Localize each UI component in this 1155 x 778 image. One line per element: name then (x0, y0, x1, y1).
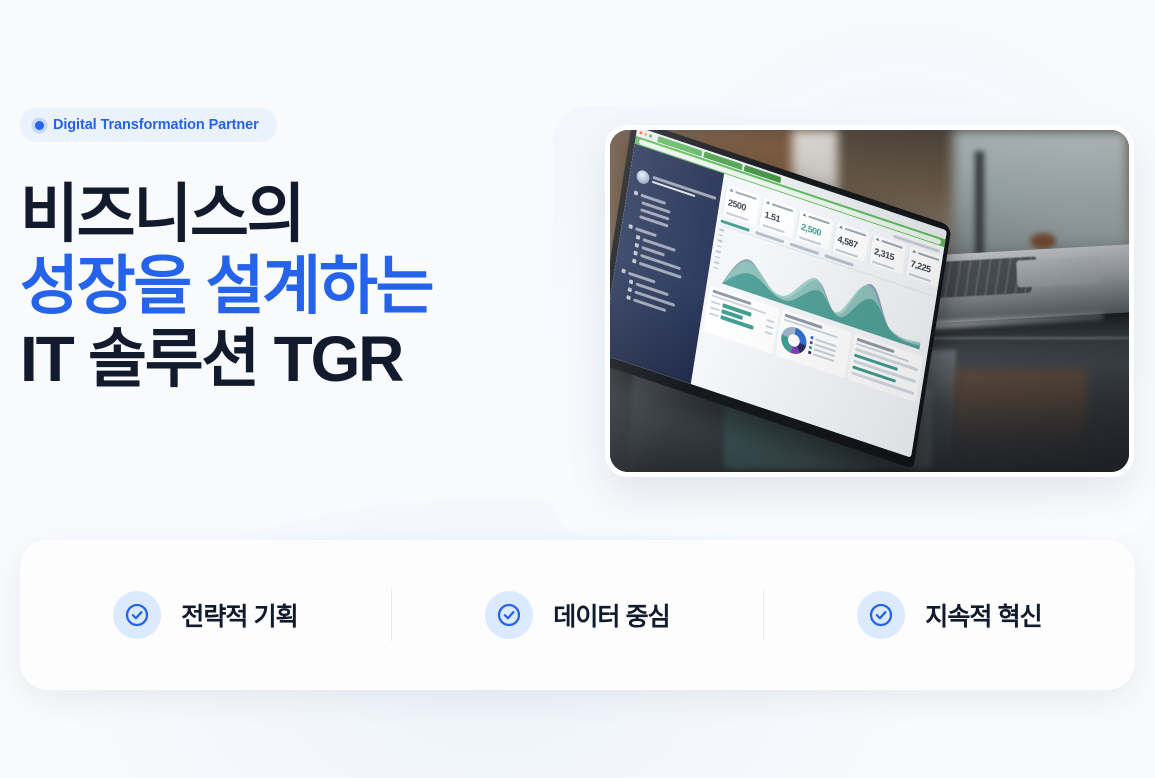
hero-section: Digital Transformation Partner 비즈니스의 성장을… (0, 0, 1155, 540)
kpi-value: 7,225 (910, 259, 931, 275)
window-close-icon (640, 131, 643, 135)
donut-legend (808, 336, 846, 368)
headline-line-2: 성장을 설계하는 (20, 250, 550, 322)
page-title: 비즈니스의 성장을 설계하는 IT 솔루션 TGR (20, 178, 550, 395)
kpi-value: 2500 (728, 197, 747, 213)
feature-label: 지속적 혁신 (925, 597, 1042, 633)
hero-image-frame: 2500 1.51 2,500 (605, 125, 1134, 477)
partner-badge: Digital Transformation Partner (20, 108, 277, 142)
photo-warm-reflection (953, 369, 1088, 469)
feature-item-data-driven[interactable]: 데이터 중심 (392, 591, 763, 639)
feature-label: 데이터 중심 (553, 597, 670, 633)
feature-item-continuous-innovation[interactable]: 지속적 혁신 (764, 591, 1135, 639)
hero-text-column: Digital Transformation Partner 비즈니스의 성장을… (20, 108, 550, 395)
laptop-dashboard-photo: 2500 1.51 2,500 (610, 130, 1129, 472)
kpi-value: 1.51 (764, 210, 781, 225)
photo-lamp (1030, 233, 1056, 249)
feature-label: 전략적 기획 (181, 597, 298, 633)
check-circle-icon (857, 591, 905, 639)
kpi-value: 4,587 (837, 234, 858, 250)
kpi-value: 2,315 (874, 246, 895, 262)
headline-line-3: IT 솔루션 TGR (20, 323, 550, 395)
window-maximize-icon (649, 134, 652, 138)
partner-badge-label: Digital Transformation Partner (53, 117, 259, 133)
feature-highlights-card: 전략적 기획 데이터 중심 지속적 혁신 (20, 540, 1135, 690)
donut-chart (780, 324, 809, 358)
headline-line-1: 비즈니스의 (20, 178, 550, 250)
feature-item-strategic-planning[interactable]: 전략적 기획 (20, 591, 391, 639)
check-circle-icon (485, 591, 533, 639)
avatar (636, 169, 651, 186)
dashboard-brand (638, 151, 641, 168)
laptop-trackpad (1016, 255, 1101, 287)
check-circle-icon (113, 591, 161, 639)
window-minimize-icon (645, 133, 648, 137)
badge-dot-icon (35, 121, 44, 130)
kpi-value: 2,500 (801, 222, 822, 238)
